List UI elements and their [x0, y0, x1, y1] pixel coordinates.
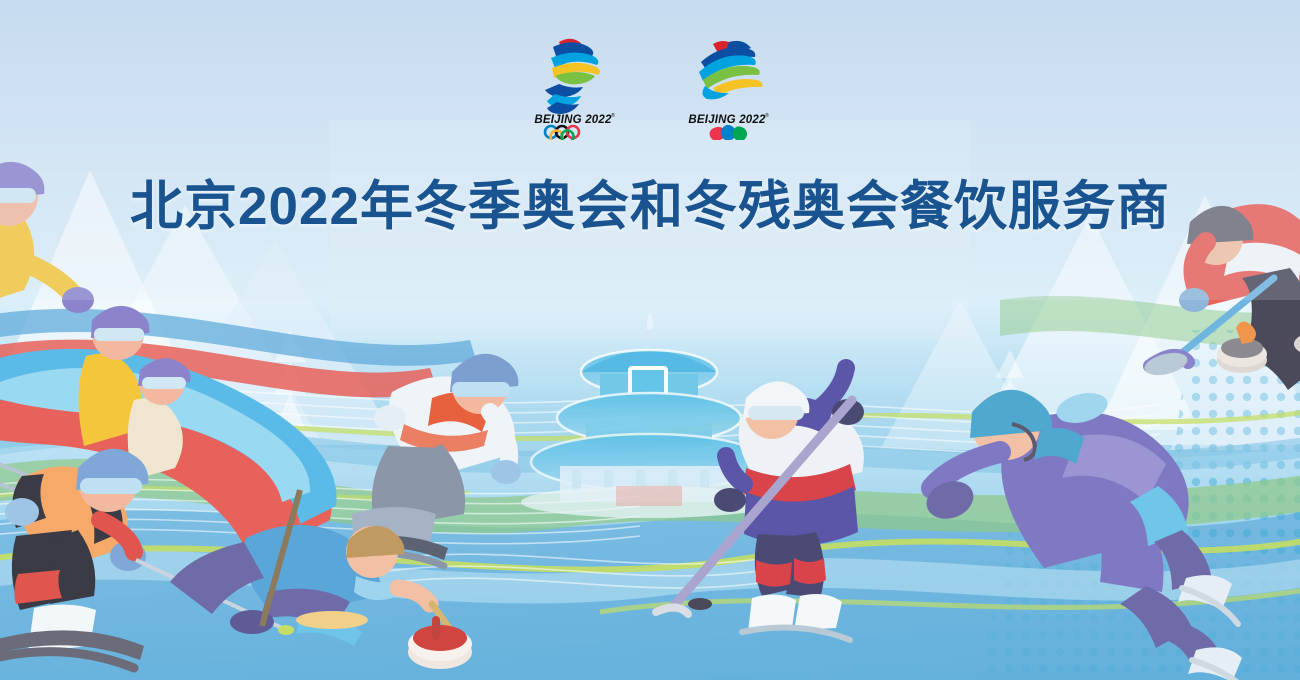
olympic-trademark: ® [611, 112, 615, 119]
emblem-row: BEIJING 2022 ® [0, 28, 1300, 140]
olympic-wordmark: BEIJING 2022 [534, 114, 612, 126]
olympic-emblem-ribbon [545, 39, 600, 114]
beijing-2022-catering-banner: BEIJING 2022 ® [0, 0, 1300, 680]
olympic-emblem: BEIJING 2022 ® [525, 28, 621, 140]
paralympic-emblem-ribbon [699, 41, 762, 100]
paralympic-trademark: ® [765, 112, 769, 119]
page-title-wrap: 北京2022年冬季奥会和冬残奥会餐饮服务商 [0, 142, 1300, 270]
paralympic-wordmark: BEIJING 2022 [688, 114, 766, 126]
agitos-icon [710, 125, 747, 140]
page-title: 北京2022年冬季奥会和冬残奥会餐饮服务商 [130, 178, 1170, 235]
paralympic-emblem: BEIJING 2022 ® [679, 28, 775, 140]
olympic-rings [545, 126, 579, 140]
